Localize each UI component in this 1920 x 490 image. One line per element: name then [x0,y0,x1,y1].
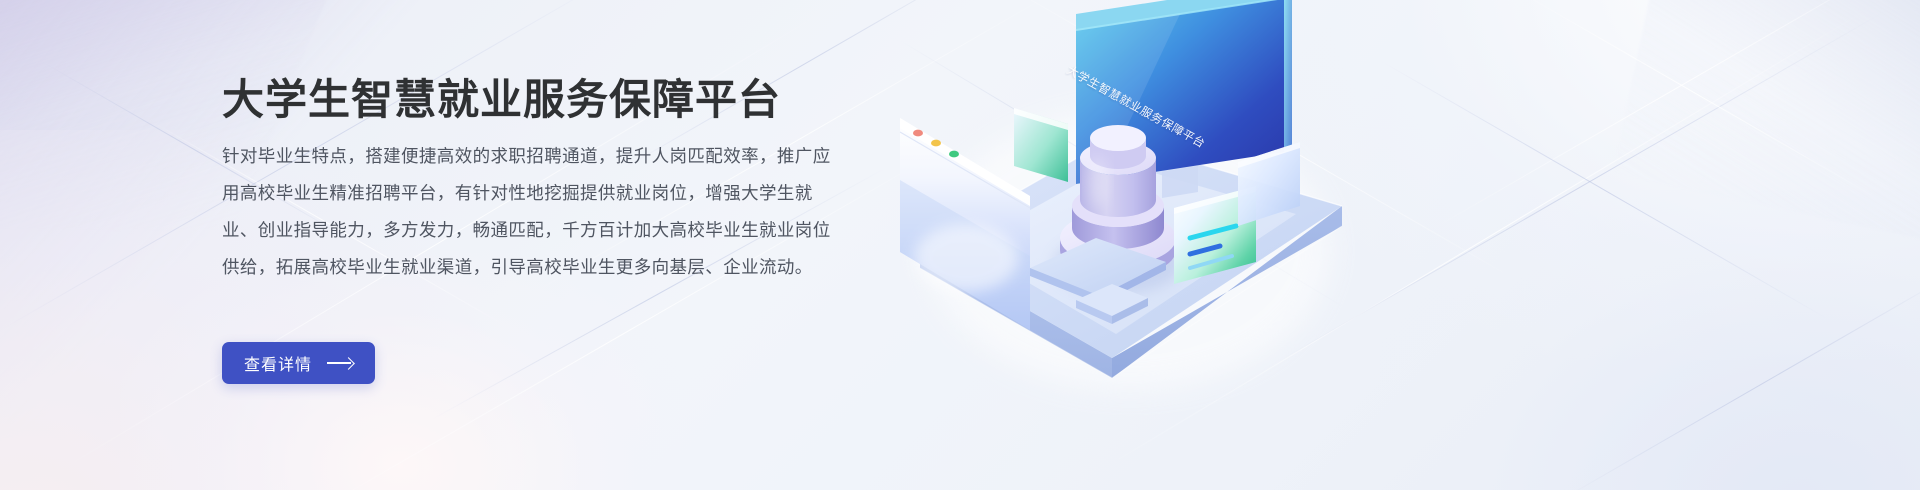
description-line: 用高校毕业生精准招聘平台，有针对性地挖掘提供就业岗位，增强大学生就 [222,175,846,212]
dot-red [913,130,923,137]
banner-content: 大学生智慧就业服务保障平台 针对毕业生特点，搭建便捷高效的求职招聘通道，提升人岗… [222,0,922,490]
banner-description: 针对毕业生特点，搭建便捷高效的求职招聘通道，提升人岗匹配效率，推广应 用高校毕业… [222,138,846,286]
description-line: 针对毕业生特点，搭建便捷高效的求职招聘通道，提升人岗匹配效率，推广应 [222,138,846,175]
isometric-platform-illustration [880,0,1400,490]
hero-banner: 大学生智慧就业服务保障平台 针对毕业生特点，搭建便捷高效的求职招聘通道，提升人岗… [0,0,1920,490]
arrow-right-icon [327,357,353,369]
dot-yellow [931,140,941,147]
banner-title: 大学生智慧就业服务保障平台 [222,72,781,128]
dot-green [949,151,959,158]
bg-wash-top-right-edge [1612,0,1920,240]
description-line: 业、创业指导能力，多方发力，畅通匹配，千方百计加大高校毕业生就业岗位 [222,212,846,249]
view-details-label: 查看详情 [244,351,312,375]
view-details-button[interactable]: 查看详情 [222,342,375,384]
bg-wash-bottom-right [1380,190,1920,490]
description-line: 供给，拓展高校毕业生就业渠道，引导高校毕业生更多向基层、企业流动。 [222,249,846,286]
